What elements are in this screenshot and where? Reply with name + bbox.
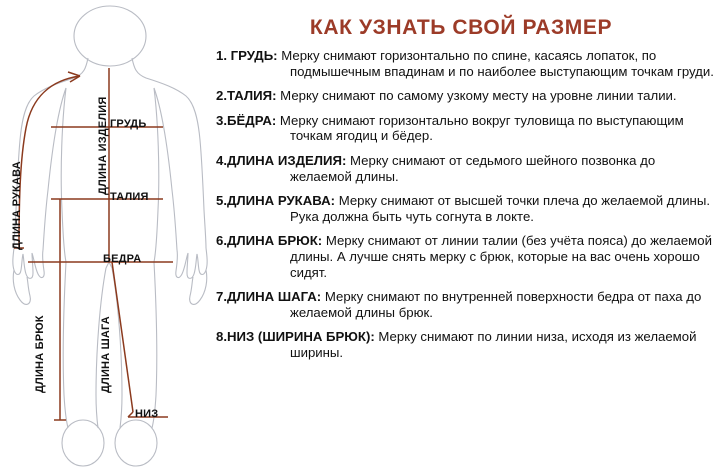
item-term: НИЗ (ШИРИНА БРЮК): (227, 329, 375, 344)
head-shape (74, 6, 146, 66)
item-term: ДЛИНА ИЗДЕЛИЯ: (227, 153, 346, 168)
item-text: Мерку снимают от высшей точки плеча до ж… (290, 193, 710, 224)
item-number: 3. (216, 113, 227, 128)
page-title: КАК УЗНАТЬ СВОЙ РАЗМЕР (212, 16, 710, 40)
left-foot-shape (62, 420, 104, 466)
label-hips: БЕДРА (103, 254, 141, 265)
right-leg-outer (152, 262, 157, 428)
instructions-panel: КАК УЗНАТЬ СВОЙ РАЗМЕР 1. ГРУДЬ: Мерку с… (212, 0, 717, 469)
list-item: 6.ДЛИНА БРЮК: Мерку снимают от линии тал… (216, 233, 716, 280)
list-item: 2.ТАЛИЯ: Мерку снимают по самому узкому … (216, 88, 716, 104)
item-text: Мерку снимают по внутренней поверхности … (290, 289, 701, 320)
item-text: Мерку снимают горизонтально вокруг тулов… (276, 113, 684, 144)
right-hand-shape (176, 248, 207, 278)
measurement-instructions-list: 1. ГРУДЬ: Мерку снимают горизонтально по… (216, 48, 716, 370)
label-chest: ГРУДЬ (110, 119, 146, 130)
item-number: 2. (216, 88, 227, 103)
item-number: 7. (216, 289, 227, 304)
left-hand-shape (13, 248, 44, 278)
left-hand-thumb (13, 270, 30, 304)
list-item: 8.НИЗ (ШИРИНА БРЮК): Мерку снимают по ли… (216, 329, 716, 360)
torso-right-outline (132, 58, 206, 248)
torso-right-side (154, 88, 159, 262)
body-measurement-diagram: ДЛИНА РУКАВА ДЛИНА ИЗДЕЛИЯ ГРУДЬ ТАЛИЯ Б… (0, 0, 212, 469)
item-number: 4. (216, 153, 227, 168)
right-leg-inner (112, 268, 122, 428)
item-text: Мерку снимают по самому узкому месту на … (277, 88, 677, 103)
list-item: 4.ДЛИНА ИЗДЕЛИЯ: Мерку снимают от седьмо… (216, 153, 716, 184)
list-item: 5.ДЛИНА РУКАВА: Мерку снимают от высшей … (216, 193, 716, 224)
label-sleeve-length: ДЛИНА РУКАВА (12, 161, 23, 250)
item-term: ДЛИНА РУКАВА: (227, 193, 335, 208)
item-term: БЁДРА: (227, 113, 276, 128)
item-term: ГРУДЬ: (231, 48, 278, 63)
label-hem: НИЗ (135, 409, 158, 420)
label-inseam-length: ДЛИНА ШАГА (101, 316, 112, 393)
item-number: 8. (216, 329, 227, 344)
sleeve-length-line (19, 76, 80, 248)
label-waist: ТАЛИЯ (110, 192, 149, 203)
item-number: 6. (216, 233, 227, 248)
label-garment-length: ДЛИНА ИЗДЕЛИЯ (98, 96, 109, 195)
label-trouser-length: ДЛИНА БРЮК (35, 315, 46, 393)
list-item: 7.ДЛИНА ШАГА: Мерку снимают по внутренне… (216, 289, 716, 320)
item-term: ТАЛИЯ: (227, 88, 277, 103)
right-hand-thumb (190, 270, 207, 304)
item-term: ДЛИНА БРЮК: (227, 233, 322, 248)
torso-left-side (61, 88, 66, 262)
item-number: 5. (216, 193, 227, 208)
body-outline-group (13, 6, 207, 466)
item-number: 1. (216, 48, 231, 63)
item-text: Мерку снимают горизонтально по спине, ка… (278, 48, 714, 79)
left-leg-outer (63, 262, 68, 428)
size-guide-infographic: ДЛИНА РУКАВА ДЛИНА ИЗДЕЛИЯ ГРУДЬ ТАЛИЯ Б… (0, 0, 717, 469)
item-term: ДЛИНА ШАГА: (227, 289, 321, 304)
item-text: Мерку снимают от линии талии (без учёта … (290, 233, 712, 279)
list-item: 1. ГРУДЬ: Мерку снимают горизонтально по… (216, 48, 716, 79)
right-foot-shape (115, 420, 157, 466)
list-item: 3.БЁДРА: Мерку снимают горизонтально вок… (216, 113, 716, 144)
